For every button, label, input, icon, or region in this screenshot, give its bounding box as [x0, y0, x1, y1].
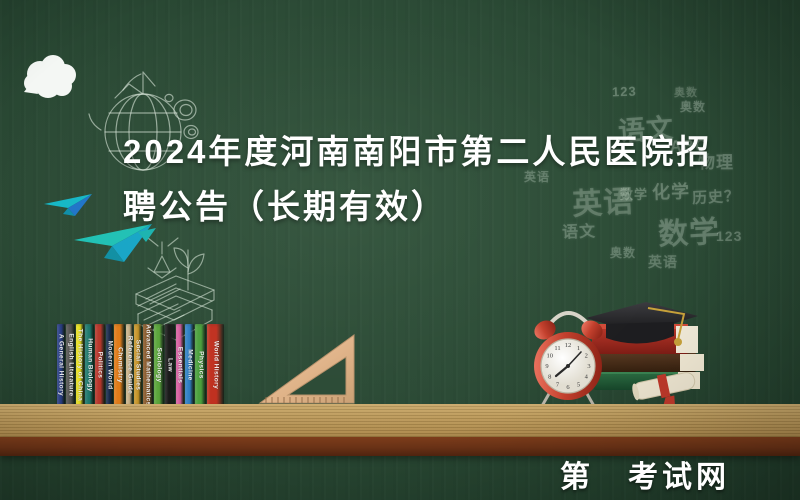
site-watermark: 第一考试网 [560, 452, 730, 496]
cloud-shape [20, 52, 82, 104]
clock-numeral: 9 [545, 363, 548, 370]
clock-numeral: 5 [577, 381, 580, 388]
book-spine: Modern World [106, 324, 113, 406]
triangle-ruler [258, 333, 380, 407]
book-title: The History of China [77, 329, 84, 401]
bookshelf-row: A General HistoryEnglish LiteratureThe H… [57, 322, 225, 406]
clock-numeral: 2 [585, 353, 588, 360]
chalk-word: 英语 [648, 252, 678, 272]
book-title: Human Biology [86, 338, 93, 392]
book-spine: Politics [95, 324, 105, 406]
desk-still-life: 121234567891011 [528, 300, 796, 412]
book-title: World History [212, 341, 219, 389]
book-title: Social Studies [135, 340, 142, 391]
poster-canvas: 123语文奥数ABC物理英语英语数学化学历史？语文数学123奥数英语奥数 [0, 0, 800, 500]
book-spine: Human Biology [85, 324, 94, 406]
book-spine: Advanced Mathematics [143, 324, 153, 406]
book-spine: English Literature [66, 324, 75, 406]
book-spine: Reference Guide [126, 324, 133, 406]
book-spine: Chemistry [114, 324, 125, 406]
book-title: A General History [58, 334, 65, 396]
watermark-prefix: 第 [560, 461, 594, 494]
book-title: English Literature [67, 333, 74, 396]
chalk-word: 奥数 [680, 98, 706, 115]
book-spine: Essentials [176, 324, 184, 406]
book-title: Reference Guide [126, 336, 133, 394]
book-title: Modern World [106, 341, 113, 390]
watermark-suffix: 考试网 [628, 461, 730, 494]
page-title: 2024年度河南南阳市第二人民医院招聘公告（长期有效） [123, 124, 723, 234]
wooden-shelf [0, 404, 800, 456]
chalk-word: 奥数 [674, 84, 698, 100]
chalk-word: 123 [612, 84, 637, 100]
book-spine: Social Studies [134, 324, 142, 406]
book-spine: World History [207, 324, 224, 406]
book-title: Sociology [156, 347, 163, 382]
chalk-word: 奥数 [610, 244, 636, 261]
book-spine: A General History [57, 324, 65, 406]
book-spine: Medicine [185, 324, 194, 406]
book-spine: Sociology [154, 324, 164, 406]
book-spine: Physics [195, 324, 206, 406]
book-spine: Law [165, 324, 175, 406]
clock-numeral: 12 [565, 342, 572, 349]
clock-numeral: 1 [577, 345, 580, 352]
book-title: Essentials [177, 347, 184, 384]
book-spine: The History of China [76, 324, 84, 406]
book-title: Chemistry [116, 347, 123, 383]
clock-numeral: 11 [554, 345, 560, 352]
clock-numeral: 3 [587, 363, 590, 370]
shelf-surface [0, 404, 800, 437]
paper-plane-small [42, 192, 96, 225]
book-title: Law [167, 358, 174, 372]
clock-numeral: 10 [547, 353, 554, 360]
book-title: Advanced Mathematics [145, 324, 152, 405]
clock-numeral: 8 [548, 374, 551, 381]
book-title: Politics [97, 352, 104, 379]
book-title: Physics [197, 351, 204, 379]
book-title: Medicine [186, 349, 193, 380]
